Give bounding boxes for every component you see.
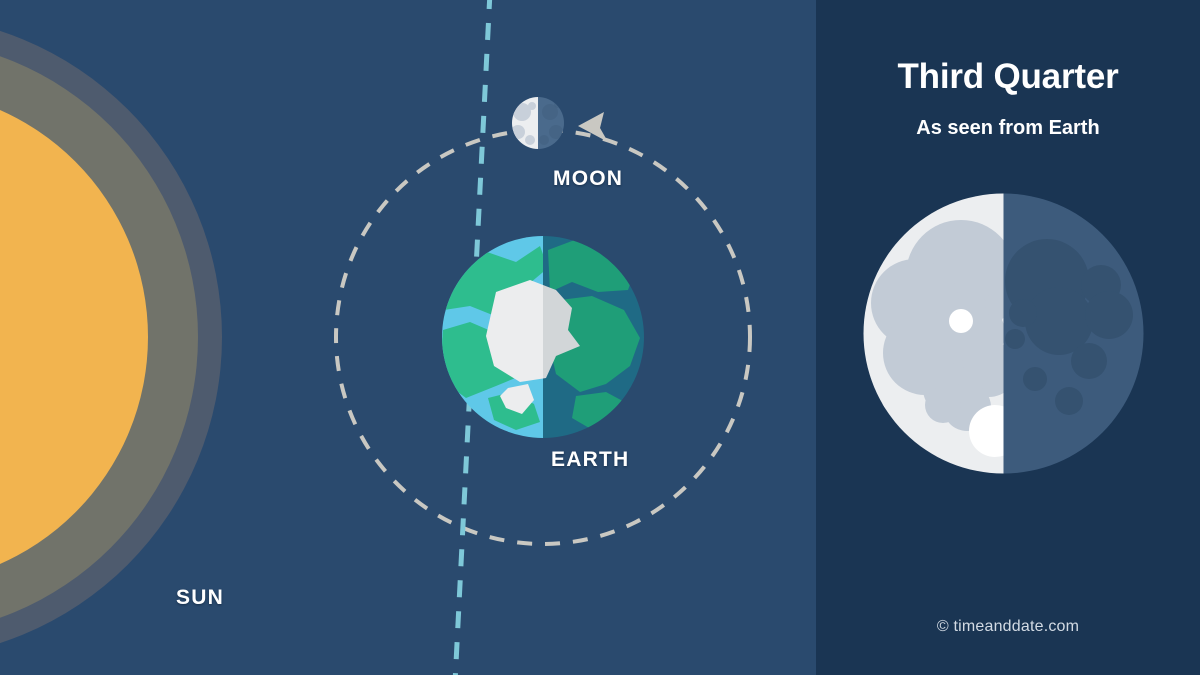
sun-graphic [0,15,222,659]
earth-graphic [430,220,663,460]
moon-phase-graphic [863,193,1144,474]
orbit-diagram [0,0,816,675]
earth-label: EARTH [551,448,629,472]
sun-label: SUN [176,586,224,610]
moon-small-graphic [510,95,568,153]
moon-lit-half [863,193,1021,474]
page-subtitle: As seen from Earth [816,117,1200,140]
orbit-direction-arrow-icon [578,112,608,142]
diagram-panel: SUN MOON EARTH [0,0,816,675]
page-title: Third Quarter [816,57,1200,97]
moon-phase-illustration: SUN MOON EARTH Third Quarter As seen fro… [0,0,1200,675]
copyright-credit: © timeanddate.com [816,618,1200,636]
moon-dark-half [1003,193,1144,474]
moon-label: MOON [553,167,623,191]
